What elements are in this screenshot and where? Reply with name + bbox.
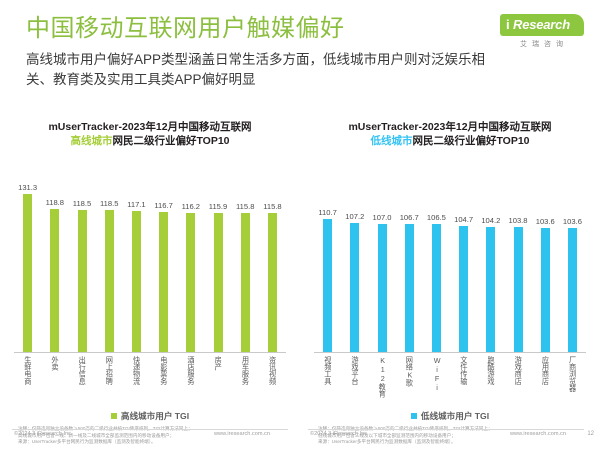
bar-group: 103.6 (532, 166, 559, 352)
logo-i-letter: i (506, 17, 510, 33)
chart-title-right-rest: 网民二级行业偏好TOP10 (412, 135, 529, 147)
category-label: 游戏商店 (504, 356, 531, 408)
bar-group: 117.1 (123, 166, 150, 352)
bar (486, 227, 495, 352)
footer-url-right[interactable]: www.iresearch.com.cn (510, 431, 566, 437)
bar-group: 118.8 (41, 166, 68, 352)
bar-group: 115.8 (232, 166, 259, 352)
bar-group: 110.7 (314, 166, 341, 352)
bar (432, 224, 441, 352)
category-label: 用车服务 (232, 356, 259, 408)
bar (378, 224, 387, 352)
bar (323, 219, 332, 352)
legend-left: 高线城市用户 TGI (8, 410, 292, 422)
category-labels-right: 视频工具游戏平台K12教育网络K歌WiFi文件传输跑酷游戏游戏商店应用商店厂商浏… (314, 356, 586, 408)
bar-series-right: 110.7107.2107.0106.7106.5104.7104.2103.8… (314, 166, 586, 352)
bar (214, 213, 223, 352)
bar-group: 104.7 (450, 166, 477, 352)
bar-value-label: 117.1 (127, 200, 145, 209)
bar-value-label: 118.8 (46, 198, 64, 207)
bar-value-label: 103.6 (563, 217, 582, 226)
bar-group: 103.8 (504, 166, 531, 352)
bar-value-label: 118.5 (73, 199, 91, 208)
category-label: 厂商浏览器 (559, 356, 586, 408)
page-subtitle: 高线城市用户偏好APP类型涵盖日常生活多方面，低线城市用户则对泛娱乐相关、教育类… (26, 50, 486, 90)
bar-value-label: 106.7 (400, 213, 419, 222)
chart-title-right-highlight: 低线城市 (370, 135, 412, 147)
bar (350, 223, 359, 352)
slide-page: 中国移动互联网用户触媒偏好 高线城市用户偏好APP类型涵盖日常生活多方面，低线城… (0, 0, 600, 449)
plot-area-right: 110.7107.2107.0106.7106.5104.7104.2103.8… (314, 156, 586, 352)
logo-badge: i Research (500, 14, 584, 36)
bar-group: 116.7 (150, 166, 177, 352)
chart-title-right: mUserTracker-2023年12月中国移动互联网 低线城市网民二级行业偏… (308, 108, 592, 148)
bar-value-label: 115.8 (236, 202, 254, 211)
bar (514, 227, 523, 352)
page-title: 中国移动互联网用户触媒偏好 (26, 14, 582, 44)
category-label: 房产 (204, 356, 231, 408)
bar-group: 107.2 (341, 166, 368, 352)
category-label: K12教育 (368, 356, 395, 408)
bar (459, 226, 468, 352)
category-labels-left: 生鲜电商外卖出行信息网上招聘快递物流电影票务酒店服务房产用车服务资讯视频 (14, 356, 286, 408)
legend-label-left: 高线城市用户 TGI (121, 410, 189, 422)
bar (23, 194, 32, 352)
bar-group: 131.3 (14, 166, 41, 352)
chart-title-right-line2: 低线城市网民二级行业偏好TOP10 (308, 134, 592, 148)
legend-swatch-icon (411, 413, 417, 419)
category-label: 电影票务 (150, 356, 177, 408)
bar (159, 212, 168, 352)
bar-value-label: 103.6 (536, 217, 555, 226)
category-label: 应用商店 (532, 356, 559, 408)
chart-title-left: mUserTracker-2023年12月中国移动互联网 高线城市网民二级行业偏… (8, 108, 292, 148)
bar (541, 228, 550, 352)
bar-value-label: 104.2 (481, 216, 500, 225)
category-label: 快递物流 (123, 356, 150, 408)
category-label: 出行信息 (68, 356, 95, 408)
chart-title-right-line1: mUserTracker-2023年12月中国移动互联网 (308, 120, 592, 134)
bar-group: 118.5 (68, 166, 95, 352)
bar-group: 115.9 (204, 166, 231, 352)
bar-value-label: 107.2 (345, 212, 364, 221)
bar-value-label: 103.8 (509, 216, 528, 225)
slide-header: 中国移动互联网用户触媒偏好 高线城市用户偏好APP类型涵盖日常生活多方面，低线城… (0, 0, 600, 108)
legend-right: 低线城市用户 TGI (308, 410, 592, 422)
chart-panel-left: mUserTracker-2023年12月中国移动互联网 高线城市网民二级行业偏… (0, 108, 300, 426)
bar-series-left: 131.3118.8118.5118.5117.1116.7116.2115.9… (14, 166, 286, 352)
category-label: 跑酷游戏 (477, 356, 504, 408)
bar (105, 210, 114, 352)
bar-group: 106.7 (396, 166, 423, 352)
bar-value-label: 104.7 (454, 215, 473, 224)
bar (186, 213, 195, 352)
footer-divider-right (308, 429, 584, 430)
bar-group: 107.0 (368, 166, 395, 352)
bar-group: 116.2 (177, 166, 204, 352)
category-label: WiFi (423, 356, 450, 408)
logo-chinese-name: 艾瑞咨询 (500, 39, 584, 49)
chart-panel-right: mUserTracker-2023年12月中国移动互联网 低线城市网民二级行业偏… (300, 108, 600, 426)
bar (50, 209, 59, 352)
bar-group: 115.8 (259, 166, 286, 352)
category-label: 视频工具 (314, 356, 341, 408)
plot-area-left: 131.3118.8118.5118.5117.1116.7116.2115.9… (14, 156, 286, 352)
category-label: 网络K歌 (396, 356, 423, 408)
bar-group: 104.2 (477, 166, 504, 352)
bar-value-label: 110.7 (318, 208, 336, 217)
chart-title-left-line2: 高线城市网民二级行业偏好TOP10 (8, 134, 292, 148)
footer-url-left[interactable]: www.iresearch.com.cn (214, 431, 270, 437)
chart-title-left-line1: mUserTracker-2023年12月中国移动互联网 (8, 120, 292, 134)
legend-label-right: 低线城市用户 TGI (421, 410, 489, 422)
bar (132, 211, 141, 352)
charts-container: mUserTracker-2023年12月中国移动互联网 高线城市网民二级行业偏… (0, 108, 600, 426)
x-axis-left (14, 352, 286, 353)
logo-wordmark: Research (513, 17, 570, 33)
category-label: 外卖 (41, 356, 68, 408)
category-label: 酒店服务 (177, 356, 204, 408)
category-label: 游戏平台 (341, 356, 368, 408)
bar-group: 103.6 (559, 166, 586, 352)
chart-title-left-rest: 网民二级行业偏好TOP10 (112, 135, 229, 147)
bar-value-label: 131.3 (18, 183, 37, 192)
bar (568, 228, 577, 352)
chart-title-left-highlight: 高线城市 (70, 135, 112, 147)
bar (268, 213, 277, 352)
bar-value-label: 116.2 (182, 202, 200, 211)
bar-value-label: 115.9 (209, 202, 227, 211)
bar (405, 224, 414, 352)
category-label: 网上招聘 (96, 356, 123, 408)
bar (241, 213, 250, 352)
legend-swatch-icon (111, 413, 117, 419)
bar-group: 118.5 (96, 166, 123, 352)
footer-copyright-left: ©2024.3 iResearch Inc. (14, 431, 73, 437)
bar-value-label: 106.5 (427, 213, 446, 222)
footer-divider-left (12, 429, 288, 430)
category-label: 资讯视频 (259, 356, 286, 408)
bar-value-label: 115.8 (263, 202, 281, 211)
bar-value-label: 107.0 (373, 213, 392, 222)
footer-copyright-right: ©2024.3 iResearch Inc. (310, 431, 369, 437)
bar-value-label: 116.7 (154, 201, 172, 210)
page-number: 12 (587, 431, 594, 437)
x-axis-right (314, 352, 586, 353)
category-label: 生鲜电商 (14, 356, 41, 408)
category-label: 文件传输 (450, 356, 477, 408)
bar-value-label: 118.5 (100, 199, 118, 208)
bar-group: 106.5 (423, 166, 450, 352)
iresearch-logo: i Research 艾瑞咨询 (500, 14, 584, 49)
bar (78, 210, 87, 352)
slide-footer: ©2024.3 iResearch Inc. www.iresearch.com… (0, 425, 600, 449)
